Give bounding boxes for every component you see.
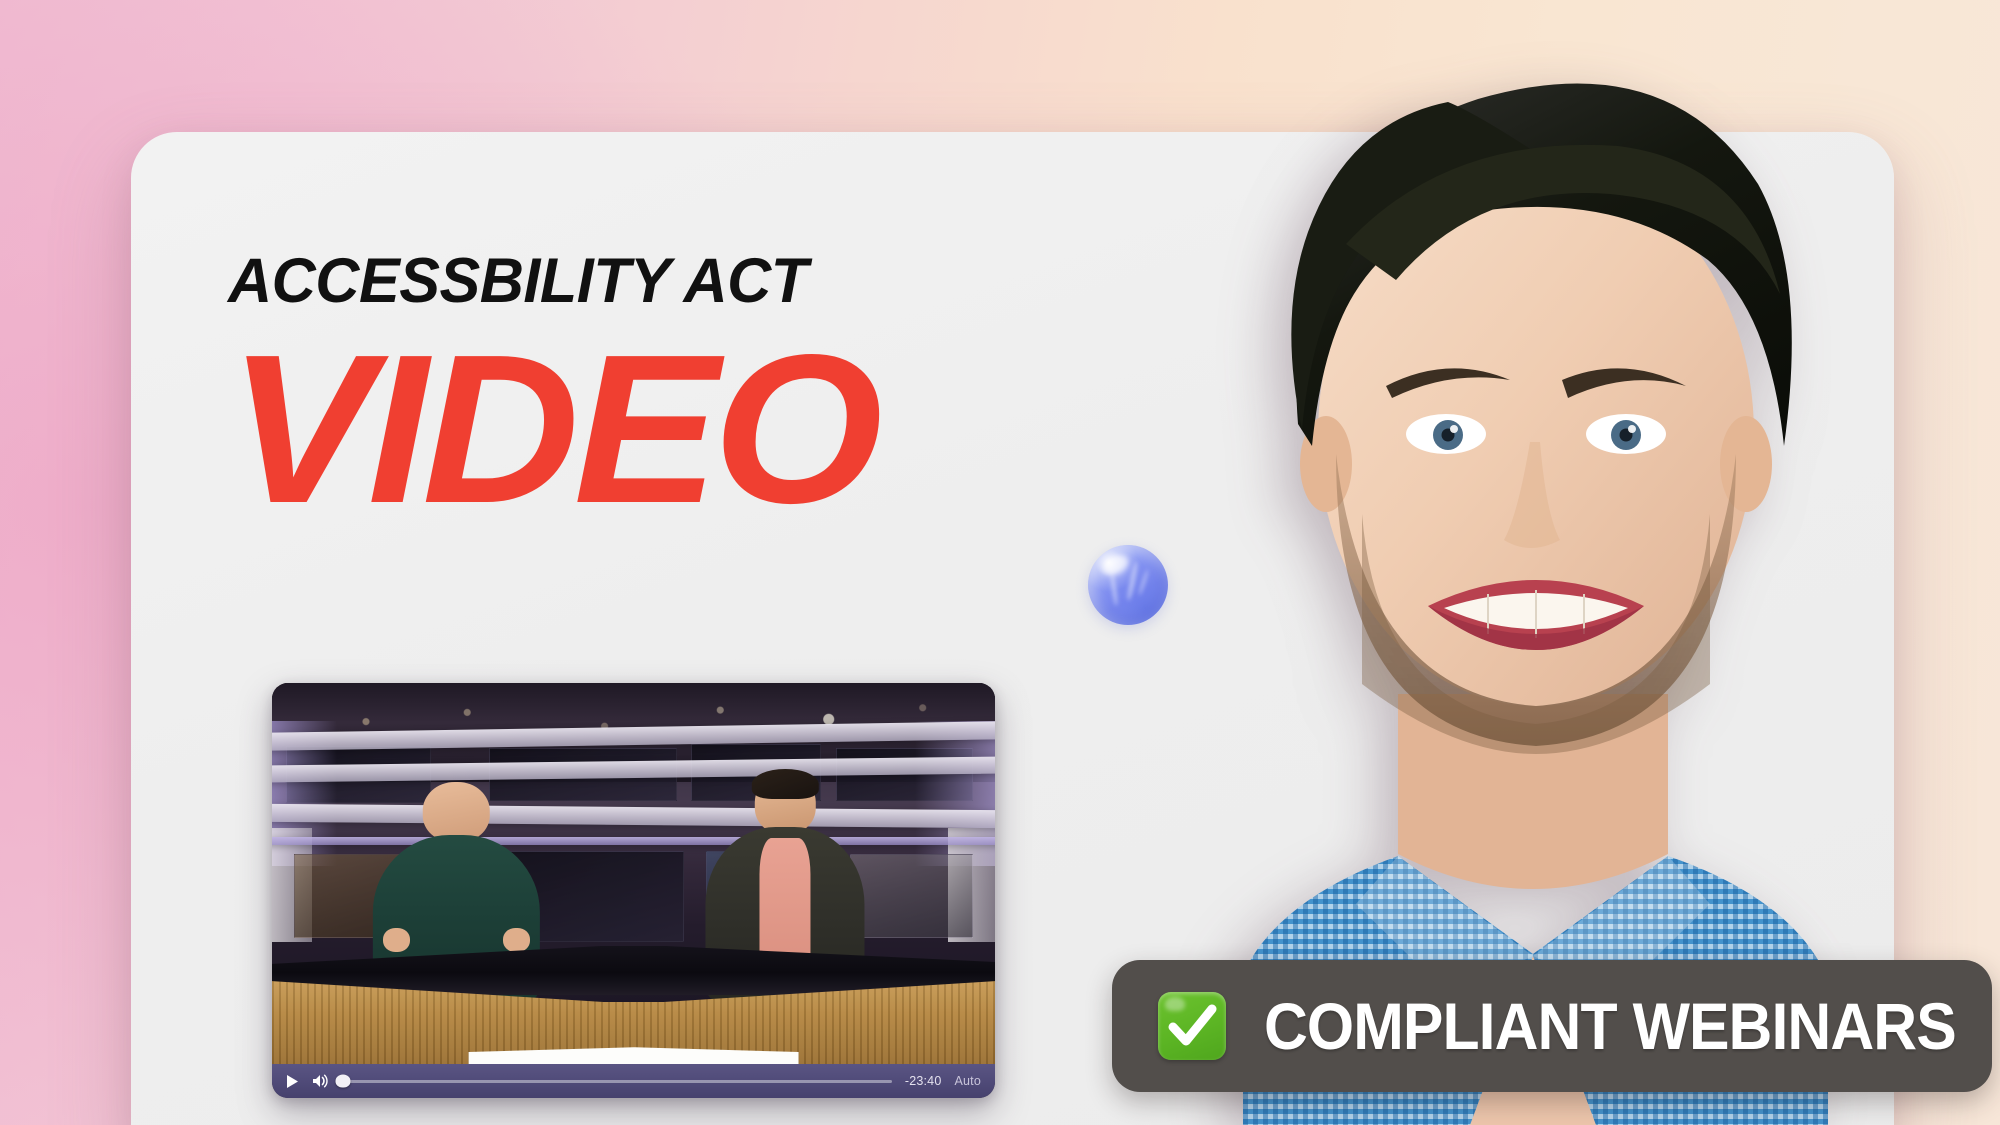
presenter-left-head xyxy=(423,782,490,842)
studio-desk-logo-panel xyxy=(468,1047,799,1064)
presenter-right-head xyxy=(755,774,815,833)
studio-window-panel xyxy=(850,854,973,938)
progress-track[interactable] xyxy=(343,1080,892,1083)
sphere-streak xyxy=(1110,572,1119,606)
time-remaining-label: -23:40 xyxy=(905,1074,942,1088)
presenter-left-hand xyxy=(503,928,530,952)
compliant-webinars-badge: COMPLIANT WEBINARS xyxy=(1112,960,1992,1092)
badge-label: COMPLIANT WEBINARS xyxy=(1264,993,1956,1059)
eyebrow-text: ACCESSBILITY ACT xyxy=(228,250,1150,313)
video-player[interactable]: -23:40 Auto xyxy=(272,683,995,1098)
main-word-row: VIDEO xyxy=(228,331,1178,526)
video-frame[interactable] xyxy=(272,683,995,1064)
progress-slider[interactable] xyxy=(343,1075,892,1087)
headline-block: ACCESSBILITY ACT VIDEO xyxy=(228,250,1178,526)
volume-icon[interactable] xyxy=(312,1073,330,1089)
progress-handle[interactable] xyxy=(336,1075,351,1088)
main-word-video: VIDEO xyxy=(228,331,877,526)
presenter-portrait xyxy=(1148,0,1918,1125)
sphere-streak xyxy=(1125,561,1138,601)
quality-label[interactable]: Auto xyxy=(954,1074,981,1088)
presenter-left-hand xyxy=(383,928,410,952)
play-icon[interactable] xyxy=(286,1074,299,1089)
green-check-mark-icon xyxy=(1158,992,1226,1060)
player-control-bar[interactable]: -23:40 Auto xyxy=(272,1064,995,1098)
